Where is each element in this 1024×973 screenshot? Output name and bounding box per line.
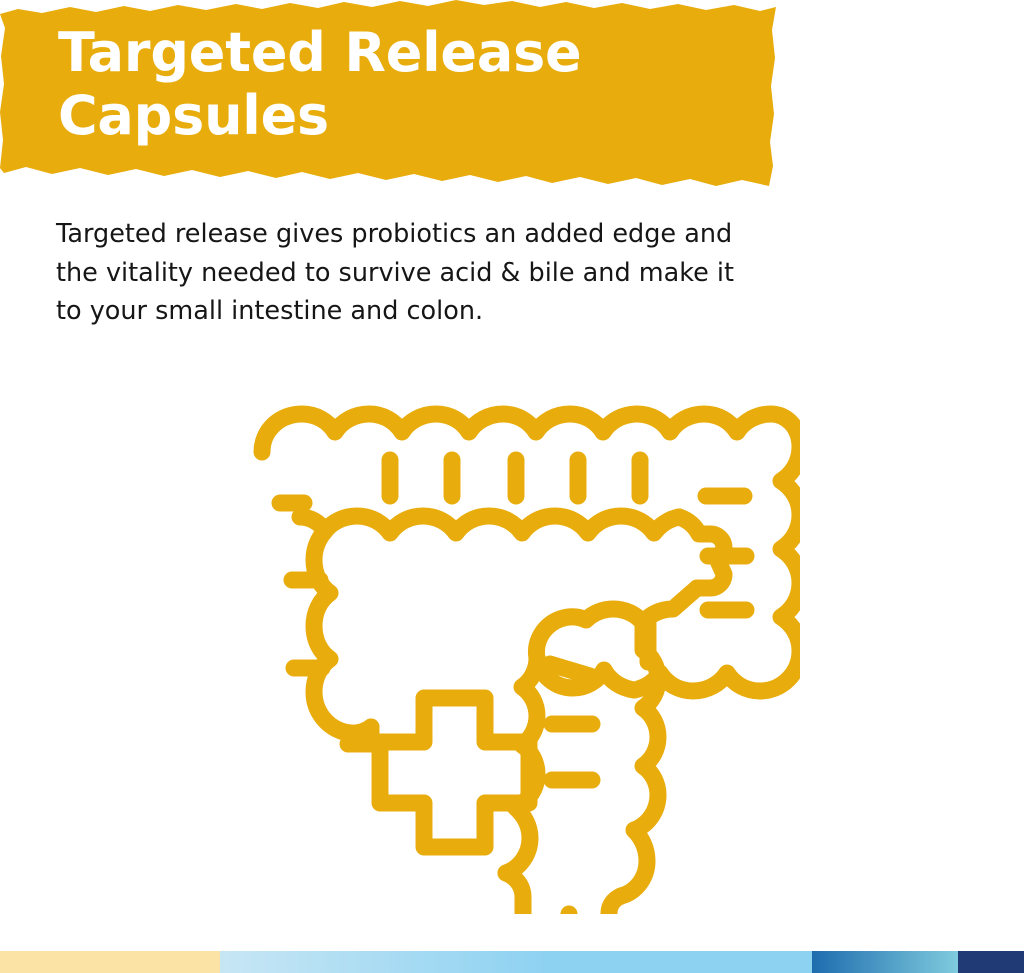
banner: Targeted Release Capsules [0,0,782,192]
page-title: Targeted Release Capsules [58,22,758,147]
large-intestine-icon [228,392,800,914]
illustration-container [228,392,800,914]
footer-color-strip [0,951,1024,973]
footer-band-gradient [812,951,958,973]
footer-band-navy [958,951,1024,973]
footer-band-sand [0,951,220,973]
footer-band-sky [220,951,812,973]
body-paragraph: Targeted release gives probiotics an add… [56,215,856,331]
